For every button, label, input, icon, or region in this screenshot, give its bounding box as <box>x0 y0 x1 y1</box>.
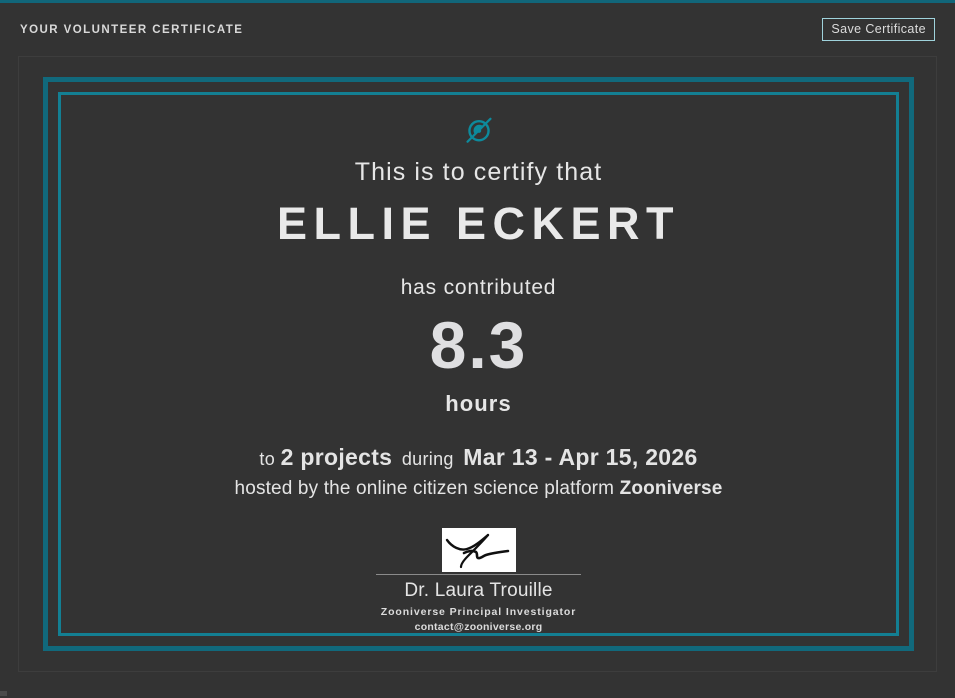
page-title: YOUR VOLUNTEER CERTIFICATE <box>20 24 243 36</box>
volunteer-name: ELLIE ECKERT <box>277 197 680 251</box>
certificate-body: This is to certify that ELLIE ECKERT has… <box>61 95 896 633</box>
signer-name: Dr. Laura Trouille <box>404 580 552 602</box>
certificate-inner-frame: This is to certify that ELLIE ECKERT has… <box>58 92 899 636</box>
hours-value: 8.3 <box>430 312 528 378</box>
certificate-outer-frame: This is to certify that ELLIE ECKERT has… <box>43 77 914 651</box>
signer-role: Zooniverse Principal Investigator <box>381 606 576 618</box>
page-header: YOUR VOLUNTEER CERTIFICATE Save Certific… <box>0 3 955 56</box>
platform-name: Zooniverse <box>620 478 723 499</box>
certificate-panel: This is to certify that ELLIE ECKERT has… <box>18 56 937 672</box>
zooniverse-logo-icon <box>447 115 511 146</box>
scrollbar-artifact[interactable] <box>0 691 7 696</box>
signature-divider <box>376 574 581 575</box>
certify-line: This is to certify that <box>355 159 603 187</box>
date-range: Mar 13 - Apr 15, 2026 <box>463 444 697 470</box>
hours-label: hours <box>445 391 512 417</box>
signer-email: contact@zooniverse.org <box>415 621 543 633</box>
projects-line: to 2 projects during Mar 13 - Apr 15, 20… <box>259 444 697 471</box>
hosted-prefix: hosted by the online citizen science pla… <box>235 478 615 499</box>
projects-count: 2 projects <box>281 444 393 470</box>
projects-to-label: to <box>259 449 275 469</box>
laura-trouille-signature-icon <box>442 528 516 572</box>
save-certificate-button[interactable]: Save Certificate <box>822 18 935 41</box>
hosted-line: hosted by the online citizen science pla… <box>235 478 723 500</box>
contributed-label: has contributed <box>401 276 557 300</box>
signature-block: Dr. Laura Trouille Zooniverse Principal … <box>376 528 581 633</box>
projects-during-label: during <box>398 449 458 469</box>
